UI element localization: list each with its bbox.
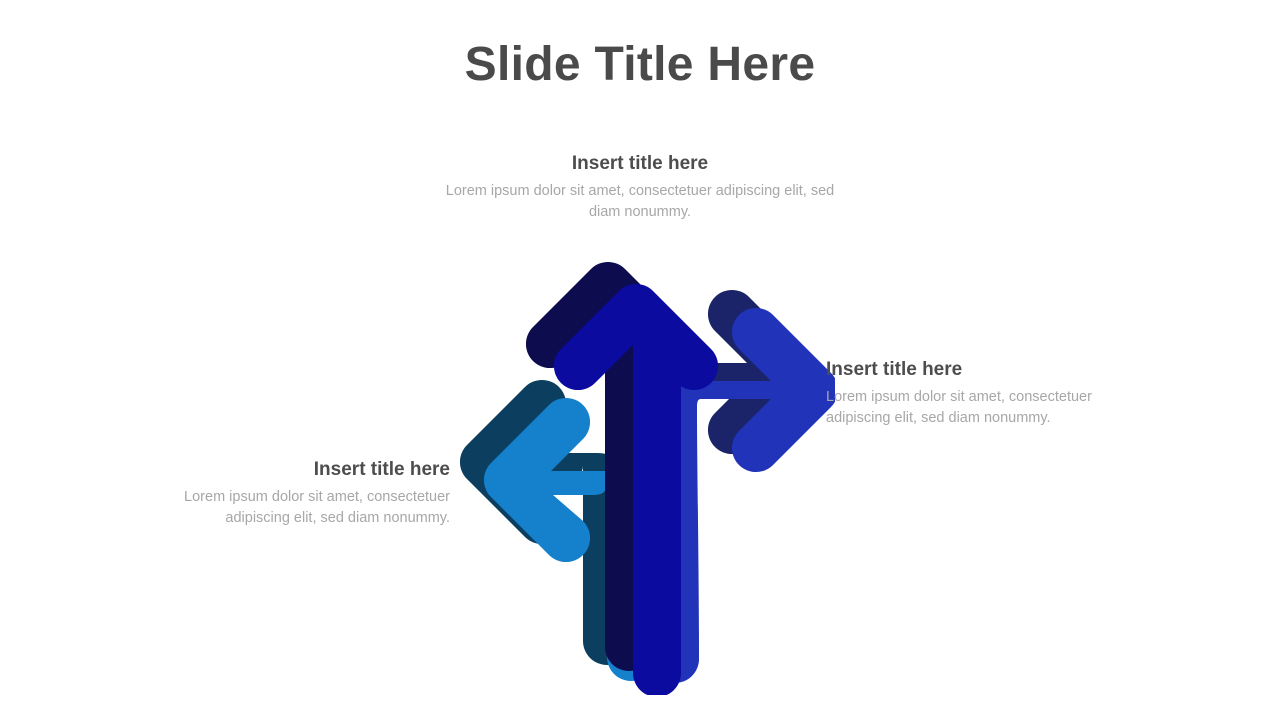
- callout-left-title: Insert title here: [140, 458, 450, 483]
- callout-left-body: Lorem ipsum dolor sit amet, consectetuer…: [140, 487, 450, 529]
- callout-right: Insert title here Lorem ipsum dolor sit …: [826, 358, 1146, 429]
- callout-right-body: Lorem ipsum dolor sit amet, consectetuer…: [826, 387, 1146, 429]
- callout-left: Insert title here Lorem ipsum dolor sit …: [140, 458, 450, 529]
- arrow-diagram-svg: [455, 225, 835, 695]
- slide-canvas: Slide Title Here: [0, 0, 1280, 720]
- callout-right-title: Insert title here: [826, 358, 1146, 383]
- callout-top-title: Insert title here: [440, 152, 840, 177]
- callout-top: Insert title here Lorem ipsum dolor sit …: [440, 152, 840, 223]
- callout-top-body: Lorem ipsum dolor sit amet, consectetuer…: [440, 181, 840, 223]
- page-title: Slide Title Here: [0, 36, 1280, 94]
- three-way-arrow-graphic: [455, 225, 835, 695]
